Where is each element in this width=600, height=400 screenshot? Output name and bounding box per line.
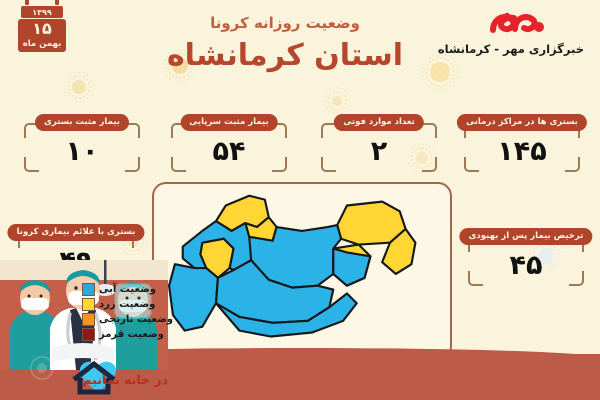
legend-item-red: وضعیت قرمز bbox=[82, 328, 173, 341]
calendar-day: ۱۵ bbox=[18, 21, 66, 38]
calendar-year: ۱۳۹۹ bbox=[21, 6, 63, 18]
calendar-icon: ۱۳۹۹ ۱۵ بهمن ماه bbox=[18, 2, 66, 52]
legend-label: وضعیت زرد bbox=[99, 299, 155, 310]
stat-label: بستری ها در مراکز درمانی bbox=[457, 114, 587, 131]
calendar-ring-left bbox=[55, 0, 59, 5]
calendar-ring-right bbox=[25, 0, 29, 5]
stat-label: تعداد موارد فوتی bbox=[334, 114, 424, 131]
stat-label: بستری با علائم بیماری کرونا bbox=[8, 224, 145, 241]
stat-card-discharged-recovered: ترخیص بیمار پس از بهبودی ۴۵ bbox=[460, 228, 592, 286]
virus-decoration-icon bbox=[332, 96, 342, 106]
calendar-month: بهمن ماه bbox=[18, 39, 66, 49]
stat-label: بیمار مثبت سرپایی bbox=[180, 114, 277, 131]
page-title-block: وضعیت روزانه کرونا استان کرمانشاه bbox=[130, 14, 440, 73]
kermanshah-province-map-panel bbox=[152, 182, 452, 360]
legend-swatch-blue bbox=[82, 283, 95, 296]
stay-home-text: در خانه بمانیم bbox=[82, 372, 168, 387]
legend-item-orange: وضعیت نارنجی bbox=[82, 313, 173, 326]
mehr-news-logo-icon bbox=[454, 6, 584, 40]
legend-swatch-orange bbox=[82, 313, 95, 326]
page-subtitle: وضعیت روزانه کرونا bbox=[130, 14, 440, 32]
stay-home-slogan: در خانه بمانیم bbox=[18, 352, 168, 396]
virus-decoration-icon bbox=[72, 80, 86, 94]
map-region-southwest bbox=[169, 264, 218, 330]
legend-item-blue: وضعیت آبی bbox=[82, 283, 173, 296]
stat-card-positive-inpatient: بیمار مثبت بستری ۱۰ bbox=[16, 114, 148, 172]
stat-card-hospitalized-in-centers: بستری ها در مراکز درمانی ۱۴۵ bbox=[456, 114, 588, 172]
legend-item-yellow: وضعیت زرد bbox=[82, 298, 173, 311]
legend-swatch-yellow bbox=[82, 298, 95, 311]
agency-caption: خبرگزاری مهر - کرمانشاه bbox=[454, 42, 584, 56]
legend-label: وضعیت آبی bbox=[99, 284, 156, 295]
page-title: استان کرمانشاه bbox=[130, 38, 440, 73]
stat-card-positive-outpatient: بیمار مثبت سرپایی ۵۴ bbox=[163, 114, 295, 172]
map-legend: وضعیت آبی وضعیت زرد وضعیت نارنجی وضعیت ق… bbox=[82, 283, 173, 343]
legend-label: وضعیت نارنجی bbox=[99, 314, 173, 325]
stat-label: ترخیص بیمار پس از بهبودی bbox=[460, 228, 593, 245]
legend-label: وضعیت قرمز bbox=[99, 329, 164, 340]
virus-decoration-icon bbox=[31, 357, 53, 379]
stat-card-deaths: تعداد موارد فوتی ۲ bbox=[313, 114, 445, 172]
infographic-canvas: خبرگزاری مهر - کرمانشاه وضعیت روزانه کرو… bbox=[0, 0, 600, 400]
legend-swatch-red bbox=[82, 328, 95, 341]
stat-label: بیمار مثبت بستری bbox=[35, 114, 129, 131]
calendar-body: ۱۵ بهمن ماه bbox=[18, 19, 66, 52]
agency-logo: خبرگزاری مهر - کرمانشاه bbox=[454, 6, 584, 56]
